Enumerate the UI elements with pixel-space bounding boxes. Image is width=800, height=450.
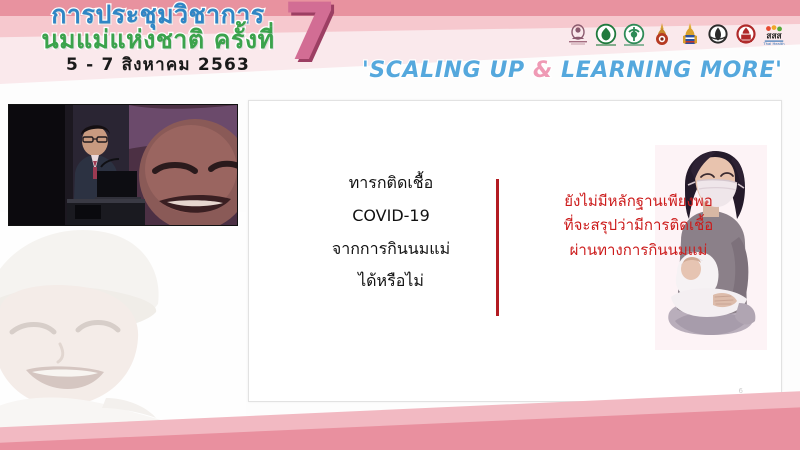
slide-screenshot: การประชุมวิชาการ นมแม่แห่งชาติ ครั้งที่ … <box>0 0 800 450</box>
background-child-photo <box>0 212 246 430</box>
conference-date: 5 - 7 สิงหาคม 2563 <box>18 57 298 74</box>
svg-text:สสส: สสส <box>766 31 782 41</box>
question-line-1: ทารกติดเชื้อ <box>291 167 491 200</box>
answer-line-2: ที่จะสรุปว่ามีการติดเชื้อ <box>511 213 766 237</box>
ministry-public-health-logo <box>594 22 618 48</box>
slide-question-text: ทารกติดเชื้อ COVID-19 จากการกินนมแม่ ได้… <box>291 167 491 298</box>
vertical-divider <box>496 179 499 316</box>
conference-title-block: การประชุมวิชาการ นมแม่แห่งชาติ ครั้งที่ … <box>18 2 298 74</box>
thai-breastfeeding-foundation-logo <box>566 22 590 48</box>
question-line-4: ได้หรือไม่ <box>291 265 491 298</box>
svg-text:Thai Health: Thai Health <box>762 42 785 46</box>
question-line-2: COVID-19 <box>291 200 491 233</box>
department-health-logo <box>622 22 646 48</box>
presentation-slide: ทารกติดเชื้อ COVID-19 จากการกินนมแม่ ได้… <box>248 100 782 402</box>
royal-emblem-logo <box>650 22 674 48</box>
edition-number: 7 <box>283 0 337 72</box>
answer-line-1: ยังไม่มีหลักฐานเพียงพอ <box>511 189 766 213</box>
conference-tagline: 'SCALING UP & LEARNING MORE' <box>362 58 782 83</box>
unicef-style-logo <box>706 22 730 48</box>
question-line-3: จากการกินนมแม่ <box>291 233 491 266</box>
thai-national-emblem-logo <box>678 22 702 48</box>
tagline-ampersand: & <box>533 58 553 83</box>
royal-college-logo <box>734 22 758 48</box>
tagline-suffix: LEARNING MORE' <box>553 58 783 83</box>
slide-answer-text: ยังไม่มีหลักฐานเพียงพอ ที่จะสรุปว่ามีการ… <box>511 189 766 262</box>
sponsor-logo-strip: สสส Thai Health <box>566 22 786 48</box>
conference-title-line2: นมแม่แห่งชาติ ครั้งที่ <box>18 27 298 53</box>
speaker-presentation-video[interactable] <box>8 104 238 226</box>
tagline-prefix: 'SCALING UP <box>362 58 533 83</box>
answer-line-3: ผ่านทางการกินนมแม่ <box>511 238 766 262</box>
thaihealth-sss-logo: สสส Thai Health <box>762 22 786 48</box>
